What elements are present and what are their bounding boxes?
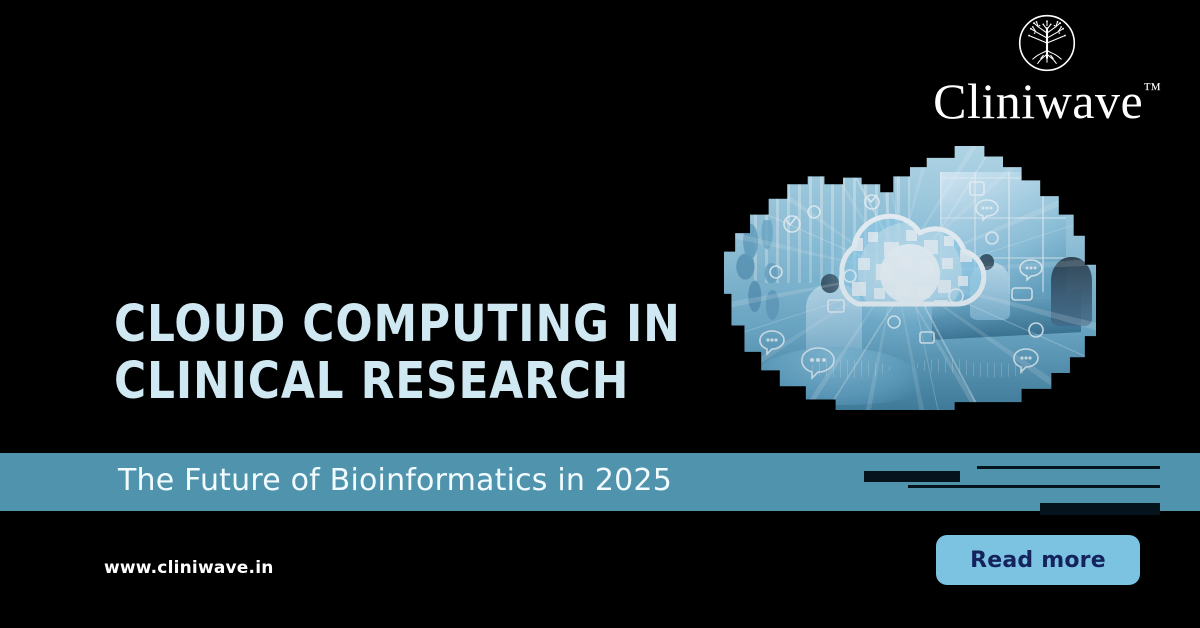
decor-line-bottom: [908, 485, 1160, 488]
trademark-symbol: ™: [1143, 80, 1161, 98]
subtitle-text: The Future of Bioinformatics in 2025: [118, 463, 672, 498]
brand-logo[interactable]: Cliniwave ™: [932, 12, 1162, 126]
headline-line-1: CLOUD COMPUTING IN: [114, 296, 647, 353]
page-title: CLOUD COMPUTING IN CLINICAL RESEARCH: [114, 296, 734, 410]
decor-bar-solid: [864, 471, 960, 482]
brand-wordmark: Cliniwave: [933, 76, 1143, 126]
decor-notch: [1040, 503, 1160, 515]
photo-blue-tint: [724, 146, 1096, 410]
decor-line-top: [977, 466, 1160, 469]
headline-line-2: CLINICAL RESEARCH: [114, 353, 647, 410]
hero-photo-canvas: [724, 146, 1096, 410]
site-url-text[interactable]: www.cliniwave.in: [104, 558, 274, 578]
promo-banner: Cliniwave ™: [0, 0, 1200, 628]
hero-cloud-image: [724, 146, 1096, 410]
tree-of-life-icon: [1016, 12, 1078, 74]
read-more-button[interactable]: Read more: [936, 535, 1140, 585]
